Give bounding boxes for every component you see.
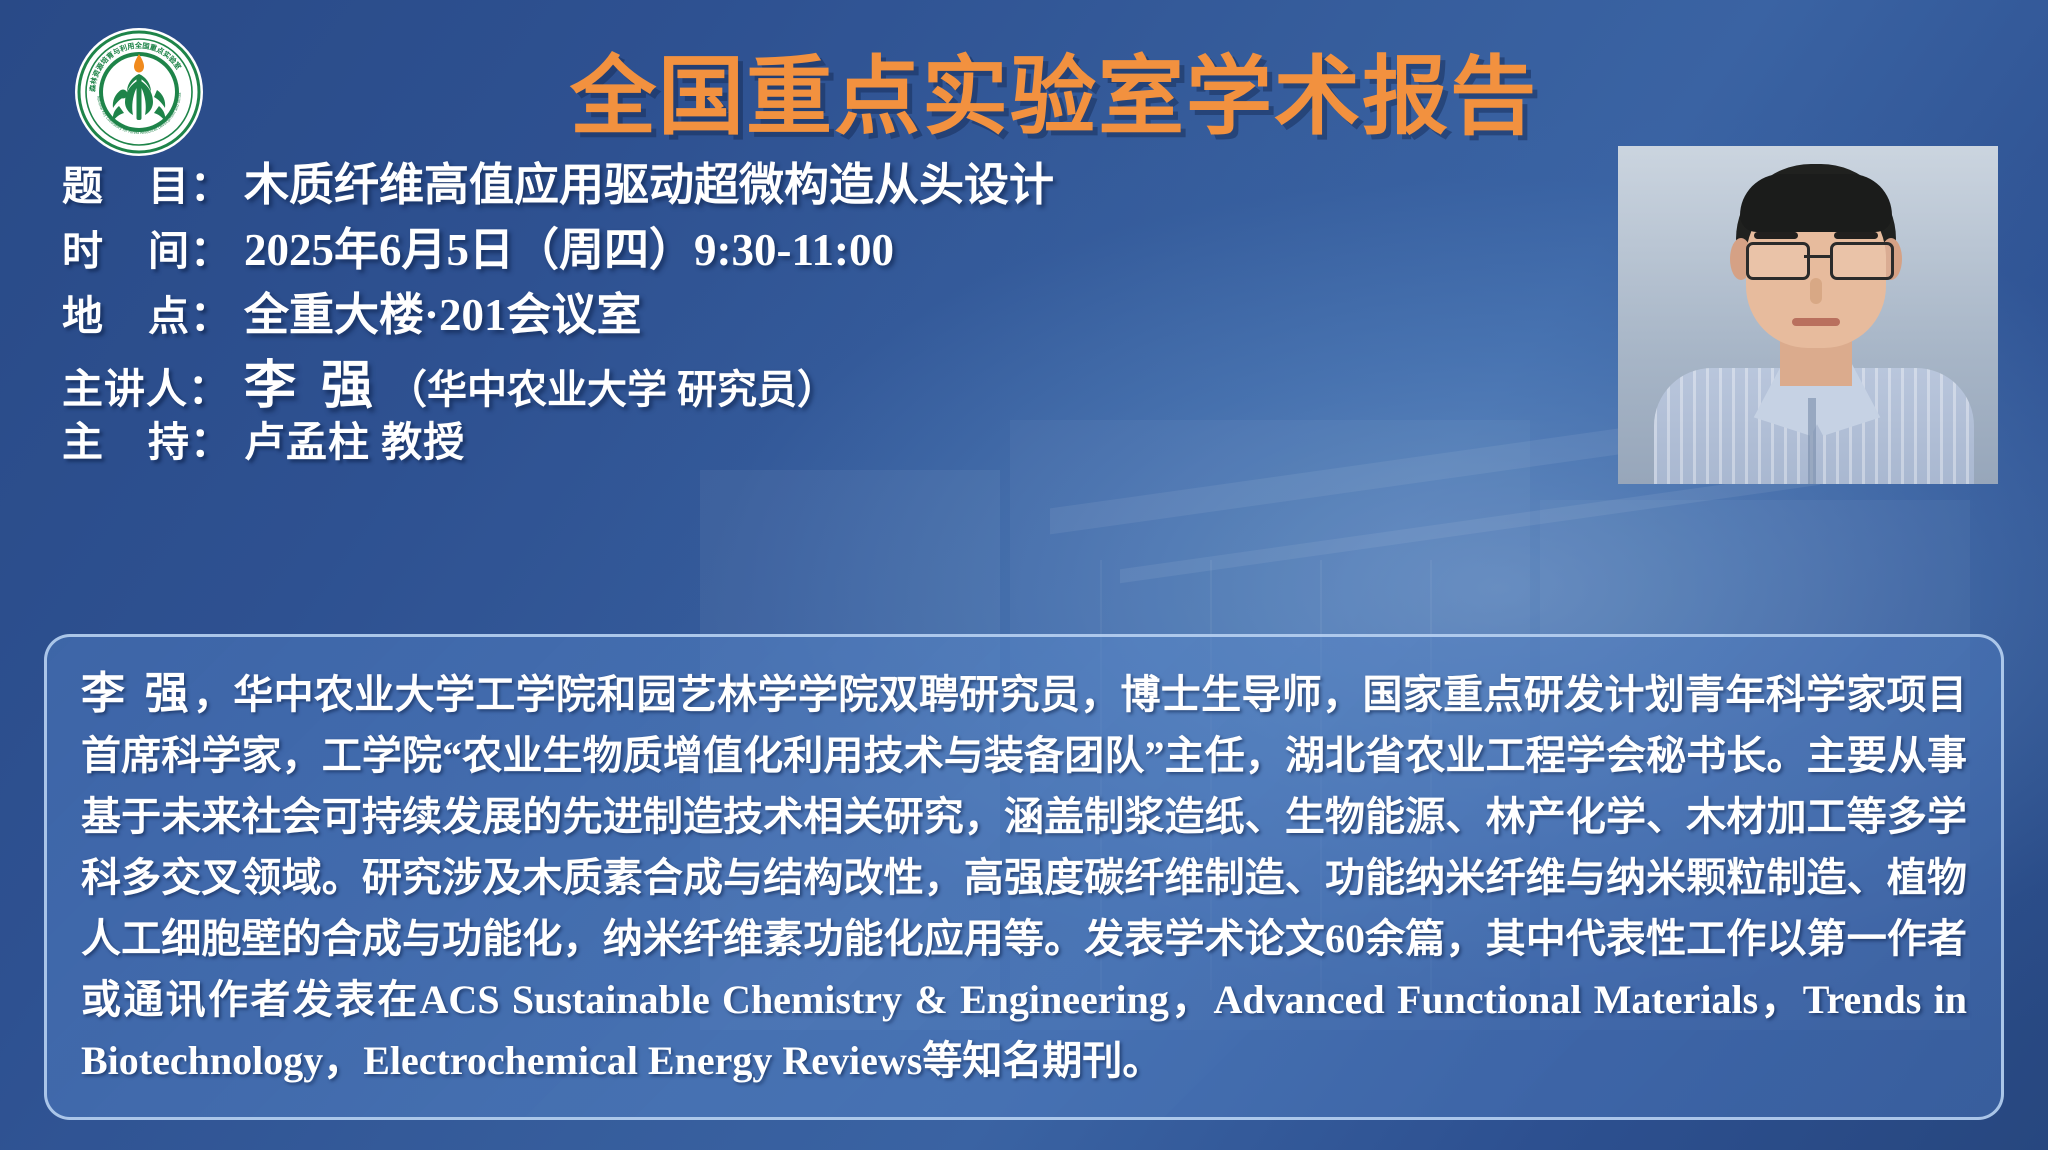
- info-row-host: 主持： 卢孟柱 教授: [62, 408, 1302, 473]
- seminar-poster: 森林资源培育与利用全国重点实验室 National Key Laboratory…: [0, 0, 2048, 1150]
- speaker-bio-box: 李 强，华中农业大学工学院和园艺林学学院双聘研究员，博士生导师，国家重点研发计划…: [44, 634, 2004, 1120]
- photo-lens-right: [1830, 242, 1894, 280]
- info-value-speaker-affiliation: （华中农业大学 研究员）: [387, 357, 837, 415]
- glasses-icon: [1744, 242, 1890, 276]
- photo-lens-left: [1746, 242, 1810, 280]
- info-row-time: 时间： 2025年6月5日（周四）9:30-11:00: [62, 213, 1302, 278]
- info-value-speaker-name: 李 强: [244, 343, 379, 418]
- seminar-info-list: 题目： 木质纤维高值应用驱动超微构造从头设计 时间： 2025年6月5日（周四）…: [62, 148, 1302, 473]
- info-label-time: 时间：: [62, 217, 244, 277]
- photo-eyebrow-right: [1834, 232, 1878, 239]
- page-title: 全国重点实验室学术报告: [0, 26, 2048, 151]
- photo-mouth: [1792, 318, 1840, 326]
- bio-speaker-name: 李 强: [81, 669, 193, 718]
- info-value-topic: 木质纤维高值应用驱动超微构造从头设计: [244, 148, 1054, 213]
- speaker-photo: [1618, 146, 1998, 484]
- info-value-time: 2025年6月5日（周四）9:30-11:00: [244, 213, 894, 278]
- photo-hair-fringe: [1740, 174, 1892, 232]
- info-row-speaker: 主讲人： 李 强 （华中农业大学 研究员）: [62, 343, 1302, 408]
- info-value-host: 卢孟柱 教授: [244, 408, 465, 468]
- info-row-topic: 题目： 木质纤维高值应用驱动超微构造从头设计: [62, 148, 1302, 213]
- bio-body: ，华中农业大学工学院和园艺林学学院双聘研究员，博士生导师，国家重点研发计划青年科…: [81, 672, 1967, 1083]
- photo-shirt-placket: [1808, 398, 1816, 484]
- info-label-topic: 题目：: [62, 152, 244, 212]
- speaker-bio-text: 李 强，华中农业大学工学院和园艺林学学院双聘研究员，博士生导师，国家重点研发计划…: [81, 663, 1967, 1091]
- info-value-location: 全重大楼·201会议室: [244, 278, 642, 343]
- info-label-location: 地点：: [62, 282, 244, 342]
- info-label-host: 主持：: [62, 408, 244, 468]
- info-label-speaker: 主讲人：: [62, 355, 244, 415]
- photo-nose: [1810, 278, 1822, 304]
- info-row-location: 地点： 全重大楼·201会议室: [62, 278, 1302, 343]
- photo-eyebrow-left: [1754, 232, 1798, 239]
- photo-glasses-bridge: [1804, 255, 1830, 258]
